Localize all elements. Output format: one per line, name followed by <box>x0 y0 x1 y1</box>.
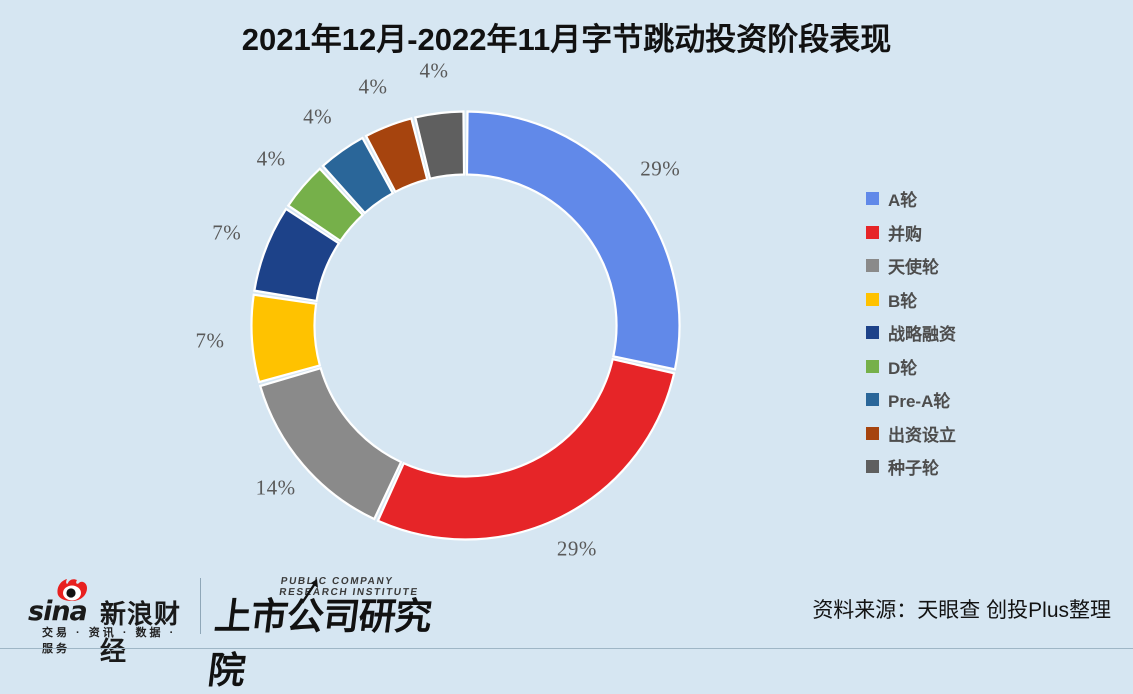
sina-finance-logo: sina 新浪财经 交易 · 资讯 · 数据 · 服务 <box>28 578 188 640</box>
legend-item-label: 出资设立 <box>888 421 956 446</box>
legend-item-label: Pre-A轮 <box>888 387 950 412</box>
legend-item-label: 并购 <box>888 220 922 245</box>
legend-swatch-icon <box>866 293 879 306</box>
legend-item[interactable]: D轮 <box>866 350 1066 384</box>
legend-item-label: 种子轮 <box>888 454 939 479</box>
slice-percentage-label: 29% <box>557 537 597 562</box>
page-title: 2021年12月-2022年11月字节跳动投资阶段表现 <box>0 14 1133 59</box>
sina-tagline: 交易 · 资讯 · 数据 · 服务 <box>42 624 188 656</box>
legend-swatch-icon <box>866 226 879 239</box>
footer-divider <box>200 578 201 634</box>
slice-percentage-label: 4% <box>257 146 286 171</box>
footer-rule <box>0 648 1133 649</box>
donut-chart <box>243 103 688 548</box>
donut-slice[interactable] <box>378 359 674 539</box>
legend-item-label: 天使轮 <box>888 253 939 278</box>
legend-item-label: D轮 <box>888 354 917 379</box>
legend-swatch-icon <box>866 326 879 339</box>
legend: A轮并购天使轮B轮战略融资D轮Pre-A轮出资设立种子轮 <box>866 182 1066 484</box>
legend-item[interactable]: Pre-A轮 <box>866 383 1066 417</box>
legend-item[interactable]: 出资设立 <box>866 417 1066 451</box>
donut-slice[interactable] <box>467 112 680 370</box>
slice-percentage-label: 4% <box>303 104 332 129</box>
legend-item-label: 战略融资 <box>888 320 956 345</box>
donut-slice[interactable] <box>252 295 320 382</box>
institute-logo: PUBLIC COMPANY RESEARCH INSTITUTE 上市公司研究… <box>212 576 442 638</box>
legend-swatch-icon <box>866 259 879 272</box>
legend-item[interactable]: 天使轮 <box>866 249 1066 283</box>
legend-swatch-icon <box>866 460 879 473</box>
institute-chinese-name: 上市公司研究院 <box>205 586 448 694</box>
slice-percentage-label: 7% <box>212 221 241 246</box>
slice-percentage-label: 4% <box>420 59 449 84</box>
legend-item[interactable]: B轮 <box>866 283 1066 317</box>
legend-item[interactable]: 并购 <box>866 216 1066 250</box>
slice-percentage-label: 14% <box>256 476 296 501</box>
legend-item[interactable]: A轮 <box>866 182 1066 216</box>
donut-svg <box>243 103 688 548</box>
footer: sina 新浪财经 交易 · 资讯 · 数据 · 服务 PUBLIC COMPA… <box>0 570 1133 650</box>
legend-item[interactable]: 种子轮 <box>866 450 1066 484</box>
source-note: 资料来源：天眼查 创投Plus整理 <box>812 594 1111 624</box>
legend-item[interactable]: 战略融资 <box>866 316 1066 350</box>
slice-percentage-label: 7% <box>195 329 224 354</box>
donut-slice-group <box>252 112 680 540</box>
legend-item-label: A轮 <box>888 186 917 211</box>
legend-swatch-icon <box>866 192 879 205</box>
slice-percentage-label: 4% <box>359 74 388 99</box>
legend-swatch-icon <box>866 360 879 373</box>
slice-percentage-label: 29% <box>640 156 680 181</box>
legend-swatch-icon <box>866 393 879 406</box>
sina-wordmark: sina <box>28 596 87 627</box>
legend-swatch-icon <box>866 427 879 440</box>
legend-item-label: B轮 <box>888 287 917 312</box>
chart-page: 2021年12月-2022年11月字节跳动投资阶段表现 29%29%14%7%7… <box>0 0 1133 670</box>
